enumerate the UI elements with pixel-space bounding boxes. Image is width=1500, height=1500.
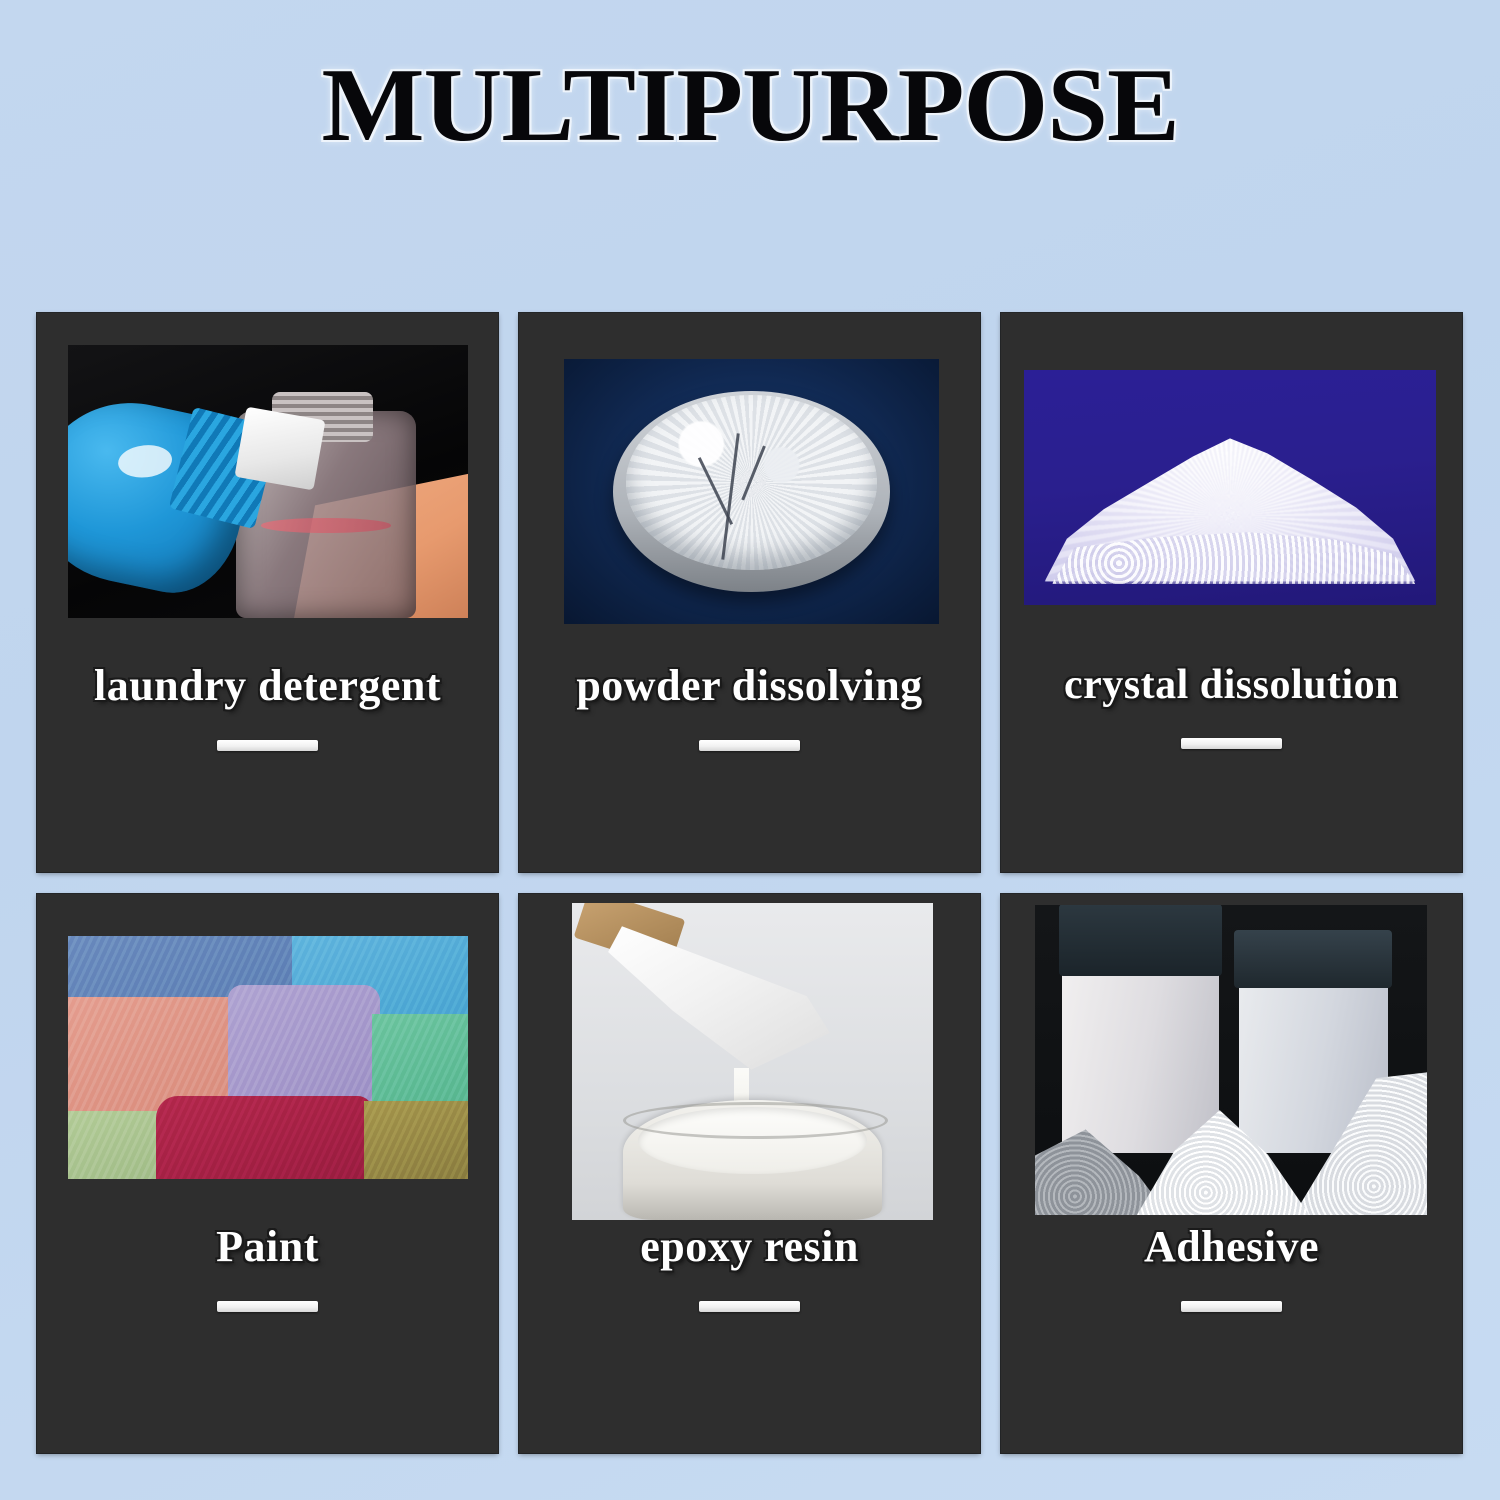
card-label: powder dissolving [576, 664, 922, 708]
label-divider [1181, 1301, 1282, 1312]
page-title-container: MULTIPURPOSE [0, 52, 1500, 157]
paint-texture-overlay [68, 936, 468, 1179]
card-label: epoxy resin [640, 1225, 859, 1269]
label-divider [699, 740, 800, 751]
infographic-page: MULTIPURPOSE laundry detergent [0, 0, 1500, 1500]
card-label: crystal dissolution [1064, 664, 1399, 706]
large-jar-shape [1062, 911, 1219, 1153]
paint-photo [68, 936, 468, 1179]
use-case-card-paint[interactable]: Paint [37, 894, 498, 1453]
use-case-card-laundry-detergent[interactable]: laundry detergent [37, 313, 498, 872]
use-case-card-adhesive[interactable]: Adhesive [1001, 894, 1462, 1453]
card-caption: Paint [37, 1225, 498, 1355]
label-divider [699, 1301, 800, 1312]
epoxy-resin-photo [572, 903, 933, 1220]
bottle-cap-shape [234, 407, 325, 491]
use-case-card-crystal-dissolution[interactable]: crystal dissolution [1001, 313, 1462, 872]
card-caption: epoxy resin [519, 1225, 980, 1355]
card-label: Adhesive [1144, 1225, 1319, 1269]
use-case-card-powder-dissolving[interactable]: powder dissolving [519, 313, 980, 872]
powder-shape [626, 395, 877, 570]
card-label: Paint [216, 1225, 319, 1269]
paint-can-shape [623, 1100, 883, 1220]
card-label: laundry detergent [94, 664, 441, 708]
jar-cap [1059, 905, 1222, 976]
card-caption: crystal dissolution [1001, 664, 1462, 794]
card-caption: laundry detergent [37, 664, 498, 794]
card-caption: powder dissolving [519, 664, 980, 794]
label-divider [1181, 738, 1282, 749]
label-divider [217, 740, 318, 751]
label-divider [217, 1301, 318, 1312]
crystal-dissolution-photo [1024, 370, 1436, 605]
resin-coated-brush-shape [608, 919, 839, 1103]
use-case-grid: laundry detergent powder dissolving [37, 313, 1463, 1454]
use-case-card-epoxy-resin[interactable]: epoxy resin [519, 894, 980, 1453]
laundry-detergent-photo [68, 345, 468, 618]
powder-dissolving-photo [564, 359, 939, 624]
card-caption: Adhesive [1001, 1225, 1462, 1355]
page-title: MULTIPURPOSE [321, 52, 1178, 157]
adhesive-photo [1035, 905, 1427, 1215]
jar-cap [1234, 930, 1392, 988]
